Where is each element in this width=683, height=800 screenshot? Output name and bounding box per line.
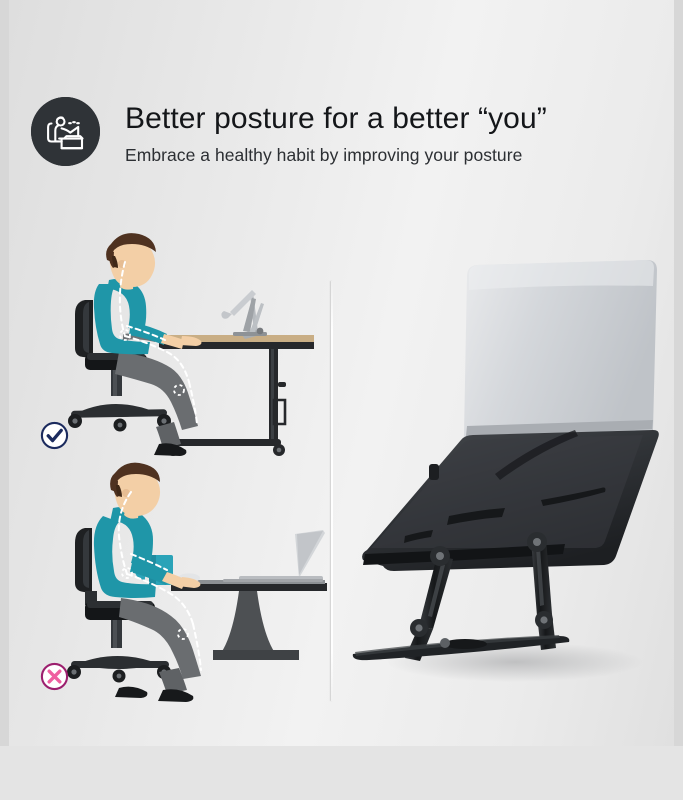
panel-footer-space — [0, 746, 683, 800]
header: Better posture for a better “you” Embrac… — [9, 0, 674, 196]
page-subtitle: Embrace a healthy habit by improving you… — [125, 143, 522, 168]
right-edge-band — [674, 0, 683, 800]
person-at-desk-icon — [31, 97, 100, 166]
adjustable-laptop-stand — [345, 248, 675, 698]
cross-badge — [40, 662, 69, 691]
infographic-canvas: Better posture for a better “you” Embrac… — [0, 0, 683, 800]
bad-posture-illustration — [27, 462, 327, 712]
panel-divider — [331, 281, 333, 701]
good-posture-illustration — [27, 222, 327, 480]
page-title: Better posture for a better “you” — [125, 99, 547, 139]
check-badge — [40, 421, 69, 450]
content-panel: Better posture for a better “you” Embrac… — [9, 0, 674, 746]
left-edge-band — [0, 0, 9, 800]
